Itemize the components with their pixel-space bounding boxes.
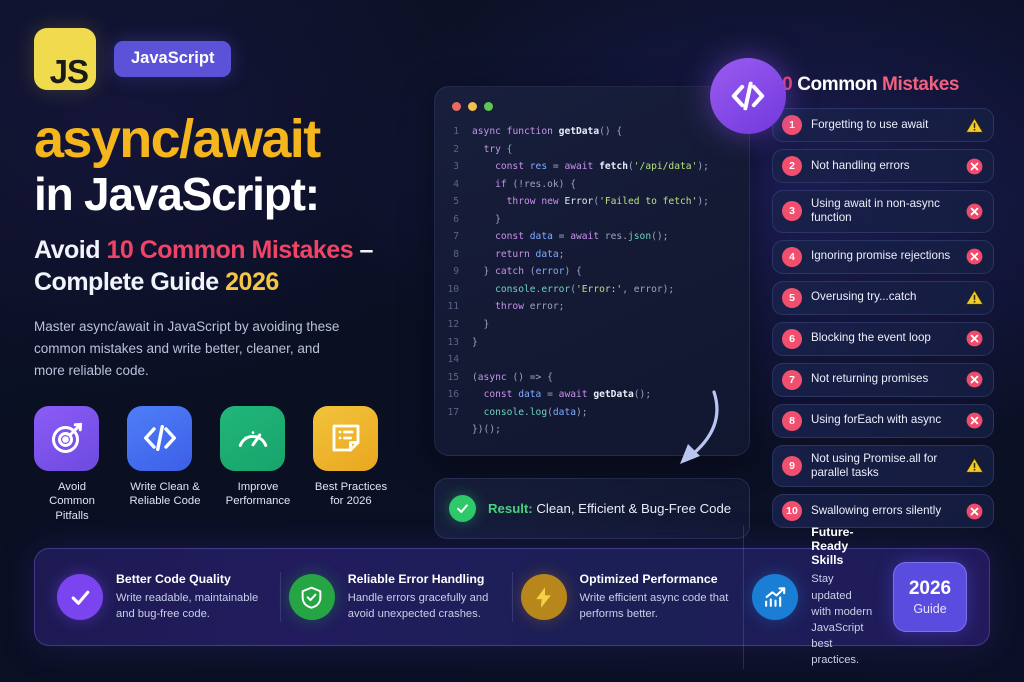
benefit-desc: Write efficient async code that performs… [580,590,736,622]
code-line-number: 12 [446,316,472,334]
feature-caption: Best Practices for 2026 [313,480,389,510]
mistake-number-badge: 5 [782,288,802,308]
mistake-label: Swallowing errors silently [811,504,956,518]
check-icon [57,574,103,620]
code-line: 3 const res = await fetch('/api/data'); [435,158,749,176]
warning-triangle-icon [965,116,984,135]
javascript-logo-icon: JS [34,28,96,90]
mistake-item[interactable]: 8Using forEach with async [772,404,994,438]
mistake-item[interactable]: 5Overusing try...catch [772,281,994,315]
feature-caption: Write Clean & Reliable Code [127,480,203,510]
left-panel: JS JavaScript async/await in JavaScript:… [34,28,414,524]
mistake-item[interactable]: 6Blocking the event loop [772,322,994,356]
language-badge: JavaScript [114,41,231,77]
feature-label-2: Performance [226,495,291,507]
subtitle-dash: – [353,236,373,264]
code-line-text: throw new Error('Failed to fetch'); [472,193,749,211]
code-line-number: 9 [446,263,472,281]
code-line-number: 3 [446,158,472,176]
document-notes-icon [313,406,378,471]
code-line-text [472,351,749,369]
code-line: 5 throw new Error('Failed to fetch'); [435,193,749,211]
code-line-text: } [472,211,749,229]
code-line-number: 5 [446,193,472,211]
mistake-number-badge: 2 [782,156,802,176]
benefit-text: Better Code Quality Write readable, main… [116,572,272,622]
chart-growth-icon [752,574,798,620]
mistake-number-badge: 7 [782,370,802,390]
code-line-number: 16 [446,386,472,404]
code-line-text: (async () => { [472,369,749,387]
benefit-performance: Optimized Performance Write efficient as… [512,572,744,622]
error-x-icon [965,202,984,221]
code-line: 12 } [435,316,749,334]
code-line: 9 } catch (error) { [435,263,749,281]
code-line: 14 [435,351,749,369]
result-banner: Result: Clean, Efficient & Bug-Free Code [434,478,750,539]
mistake-item[interactable]: 2Not handling errors [772,149,994,183]
feature-caption: Improve Performance [220,480,296,510]
result-label: Result: [488,501,533,516]
result-value: Clean, Efficient & Bug-Free Code [533,501,731,516]
code-line-text: throw error; [472,298,749,316]
code-line-number: 4 [446,176,472,194]
benefits-bar: Better Code Quality Write readable, main… [34,548,990,646]
error-x-icon [965,247,984,266]
window-controls [435,100,749,123]
code-line-number: 7 [446,228,472,246]
feature-avoid-pitfalls: Avoid Common Pitfalls [34,406,110,525]
mistake-label: Overusing try...catch [811,290,956,304]
code-line-number: 8 [446,246,472,264]
warning-triangle-icon [965,456,984,475]
subtitle-avoid: Avoid [34,236,106,264]
code-line-number: 6 [446,211,472,229]
mistake-number-badge: 3 [782,201,802,221]
code-line-text: if (!res.ok) { [472,176,749,194]
title-line-2: in JavaScript: [34,171,414,218]
code-brackets-icon [127,406,192,471]
code-tag-icon [710,58,786,134]
code-line: 6 } [435,211,749,229]
code-line-number: 11 [446,298,472,316]
code-line-text: } [472,316,749,334]
feature-clean-code: Write Clean & Reliable Code [127,406,203,525]
benefit-future-skills: Future-Ready Skills Stay updated with mo… [743,525,975,668]
code-line: 15(async () => { [435,369,749,387]
mistake-number-badge: 8 [782,411,802,431]
check-circle-icon [449,495,476,522]
mistake-item[interactable]: 7Not returning promises [772,363,994,397]
brand-row: JS JavaScript [34,28,414,90]
error-x-icon [965,157,984,176]
mistakes-title: 10 Common Mistakes [772,74,994,96]
benefit-code-quality: Better Code Quality Write readable, main… [49,572,280,622]
mistakes-title-common: Common [797,74,882,95]
mistake-item[interactable]: 4Ignoring promise rejections [772,240,994,274]
mistake-label: Not returning promises [811,372,956,386]
code-section: 1async function getData() {2 try {3 cons… [434,86,750,539]
feature-performance: Improve Performance [220,406,296,525]
error-x-icon [965,502,984,521]
benefit-title: Optimized Performance [580,572,736,586]
infographic-canvas: JS JavaScript async/await in JavaScript:… [0,0,1024,682]
benefit-desc: Stay updated with modern JavaScript best… [811,571,874,668]
guide-label: Guide [913,602,946,616]
title-line-1: async/await [34,112,414,167]
mistake-number-badge: 10 [782,501,802,521]
code-line-number: 15 [446,369,472,387]
mistake-item[interactable]: 1Forgetting to use await [772,108,994,142]
code-line-text: async function getData() { [472,123,749,141]
mistakes-title-word: Mistakes [882,74,959,95]
mistake-item[interactable]: 9Not using Promise.all for parallel task… [772,445,994,488]
benefit-desc: Handle errors gracefully and avoid unexp… [348,590,504,622]
subtitle: Avoid 10 Common Mistakes – Complete Guid… [34,234,414,298]
code-line: 2 try { [435,141,749,159]
shield-check-icon [289,574,335,620]
feature-row: Avoid Common Pitfalls Write Clean & Reli… [34,406,414,525]
mistake-number-badge: 1 [782,115,802,135]
feature-label-2: Reliable Code [130,495,201,507]
code-line-number: 1 [446,123,472,141]
result-text: Result: Clean, Efficient & Bug-Free Code [488,501,731,516]
code-line-text: } catch (error) { [472,263,749,281]
feature-label-1: Avoid Common [49,481,95,508]
benefit-desc: Write readable, maintainable and bug-fre… [116,590,272,622]
benefit-title: Future-Ready Skills [811,525,874,567]
code-line-text: const data = await res.json(); [472,228,749,246]
close-dot-icon[interactable] [452,102,461,111]
mistake-item[interactable]: 3Using await in non-async function [772,190,994,233]
benefit-text: Optimized Performance Write efficient as… [580,572,736,622]
lead-paragraph: Master async/await in JavaScript by avoi… [34,316,352,382]
flow-arrow-icon [662,386,734,472]
guide-year-badge: 2026 Guide [893,562,967,632]
lightning-bolt-icon [521,574,567,620]
mistake-label: Using forEach with async [811,413,956,427]
speedometer-icon [220,406,285,471]
code-line-number: 14 [446,351,472,369]
code-line-text: const res = await fetch('/api/data'); [472,158,749,176]
benefit-title: Reliable Error Handling [348,572,504,586]
page-title: async/await in JavaScript: [34,112,414,218]
feature-label-1: Improve [238,481,279,493]
minimize-dot-icon[interactable] [468,102,477,111]
subtitle-complete: Complete Guide [34,268,225,296]
error-x-icon [965,411,984,430]
code-line: 8 return data; [435,246,749,264]
mistake-item[interactable]: 10Swallowing errors silently [772,494,994,528]
guide-year: 2026 [909,579,951,598]
maximize-dot-icon[interactable] [484,102,493,111]
mistake-label: Ignoring promise rejections [811,249,956,263]
subtitle-highlight: 10 Common Mistakes [106,236,353,264]
subtitle-line-1: Avoid 10 Common Mistakes – [34,234,414,266]
mistake-label: Not using Promise.all for parallel tasks [811,452,956,481]
code-line: 11 throw error; [435,298,749,316]
code-line: 1async function getData() { [435,123,749,141]
code-line: 13} [435,334,749,352]
feature-label-1: Best Practices [315,481,387,493]
benefit-title: Better Code Quality [116,572,272,586]
feature-label-2: for 2026 [330,495,371,507]
code-line-text: return data; [472,246,749,264]
benefit-text: Reliable Error Handling Handle errors gr… [348,572,504,622]
subtitle-line-2: Complete Guide 2026 [34,266,414,298]
benefit-text: Future-Ready Skills Stay updated with mo… [811,525,874,668]
code-line-text: try { [472,141,749,159]
error-x-icon [965,370,984,389]
mistakes-panel: 10 Common Mistakes 1Forgetting to use aw… [772,74,994,535]
feature-label-2: Pitfalls [55,510,88,522]
mistake-label: Using await in non-async function [811,197,956,226]
target-arrow-icon [34,406,99,471]
code-line: 4 if (!res.ok) { [435,176,749,194]
subtitle-year: 2026 [225,268,279,296]
mistake-label: Blocking the event loop [811,331,956,345]
feature-best-practices: Best Practices for 2026 [313,406,389,525]
code-line: 7 const data = await res.json(); [435,228,749,246]
code-line-text: console.error('Error:', error); [472,281,749,299]
benefit-error-handling: Reliable Error Handling Handle errors gr… [280,572,512,622]
warning-triangle-icon [965,288,984,307]
code-line-text: } [472,334,749,352]
code-line-number: 2 [446,141,472,159]
mistake-label: Forgetting to use await [811,118,956,132]
code-line-number: 10 [446,281,472,299]
mistakes-list: 1Forgetting to use await2Not handling er… [772,108,994,528]
mistake-number-badge: 6 [782,329,802,349]
feature-caption: Avoid Common Pitfalls [34,480,110,525]
error-x-icon [965,329,984,348]
mistake-number-badge: 4 [782,247,802,267]
mistake-number-badge: 9 [782,456,802,476]
code-line-number: 13 [446,334,472,352]
feature-label-1: Write Clean & [130,481,199,493]
mistake-label: Not handling errors [811,159,956,173]
code-line: 10 console.error('Error:', error); [435,281,749,299]
code-line-number [446,421,472,439]
code-line-number: 17 [446,404,472,422]
js-logo-text: JS [50,55,88,88]
